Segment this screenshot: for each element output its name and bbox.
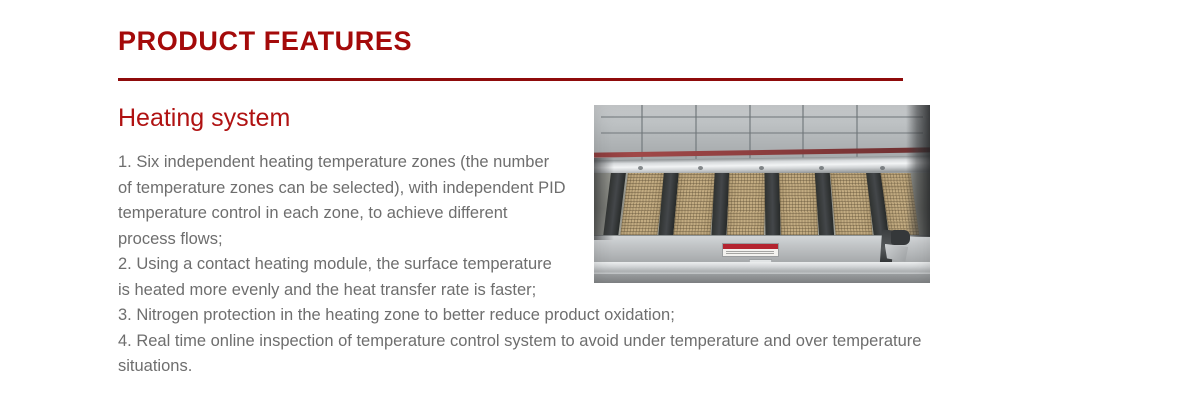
product-features-page: PRODUCT FEATURES Heating system 1. Six i… [0, 0, 1200, 408]
machine-base [594, 274, 930, 283]
warning-label-bar [723, 244, 778, 249]
page-title: PRODUCT FEATURES [118, 27, 412, 57]
conveyor-bed [594, 173, 930, 237]
title-divider [118, 78, 903, 81]
feature-item-1: 1. Six independent heating temperature z… [118, 150, 566, 252]
bottom-chrome-bar [594, 262, 930, 274]
left-interior-shadow [594, 158, 614, 240]
feature-item-2: 2. Using a contact heating module, the s… [118, 252, 566, 303]
right-interior-shadow [906, 105, 930, 237]
feature-item-4: 4. Real time online inspection of temper… [118, 329, 998, 380]
warning-label [722, 243, 779, 257]
photo-content [594, 105, 930, 283]
heating-system-photo [594, 105, 930, 283]
section-heading: Heating system [118, 104, 290, 133]
feature-item-3: 3. Nitrogen protection in the heating zo… [118, 303, 998, 329]
